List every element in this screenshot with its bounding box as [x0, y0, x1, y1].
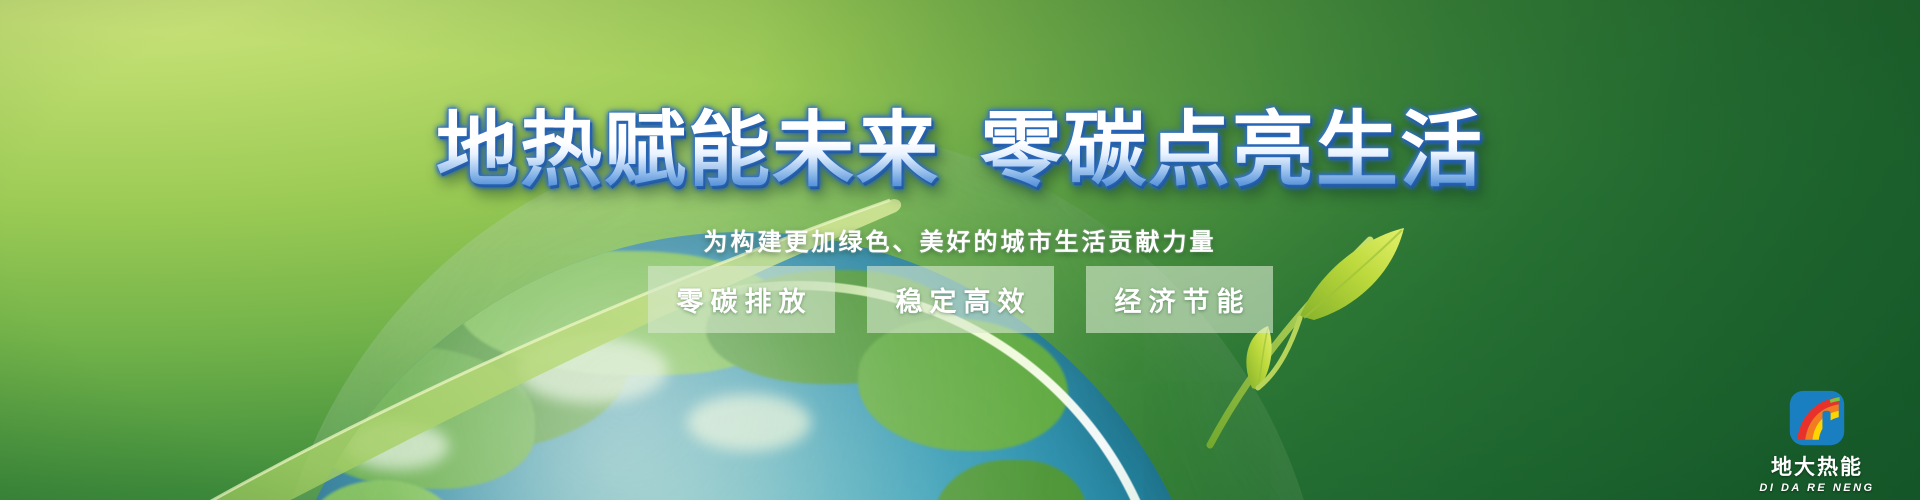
feature-badges: 零碳排放 稳定高效 经济节能	[0, 266, 1920, 333]
logo-name-en: DI DA RE NENG	[1759, 482, 1874, 494]
logo-name-cn: 地大热能	[1771, 451, 1863, 481]
hero-banner: 地热赋能未来零碳点亮生活 为构建更加绿色、美好的城市生活贡献力量 零碳排放 稳定…	[0, 0, 1920, 500]
rainbow-arc-in-rounded-square-icon	[1788, 389, 1846, 447]
headline-part-1: 地热赋能未来	[436, 105, 940, 196]
badge-zero-carbon[interactable]: 零碳排放	[648, 266, 835, 333]
badge-stable-efficient[interactable]: 稳定高效	[867, 266, 1054, 333]
badge-economical-energy-saving[interactable]: 经济节能	[1086, 266, 1273, 333]
headline-part-2: 零碳点亮生活	[980, 105, 1484, 196]
brand-logo[interactable]: 地大热能 DI DA RE NENG	[1742, 389, 1892, 494]
page-title: 地热赋能未来零碳点亮生活	[0, 107, 1920, 196]
subtitle: 为构建更加绿色、美好的城市生活贡献力量	[0, 222, 1920, 257]
